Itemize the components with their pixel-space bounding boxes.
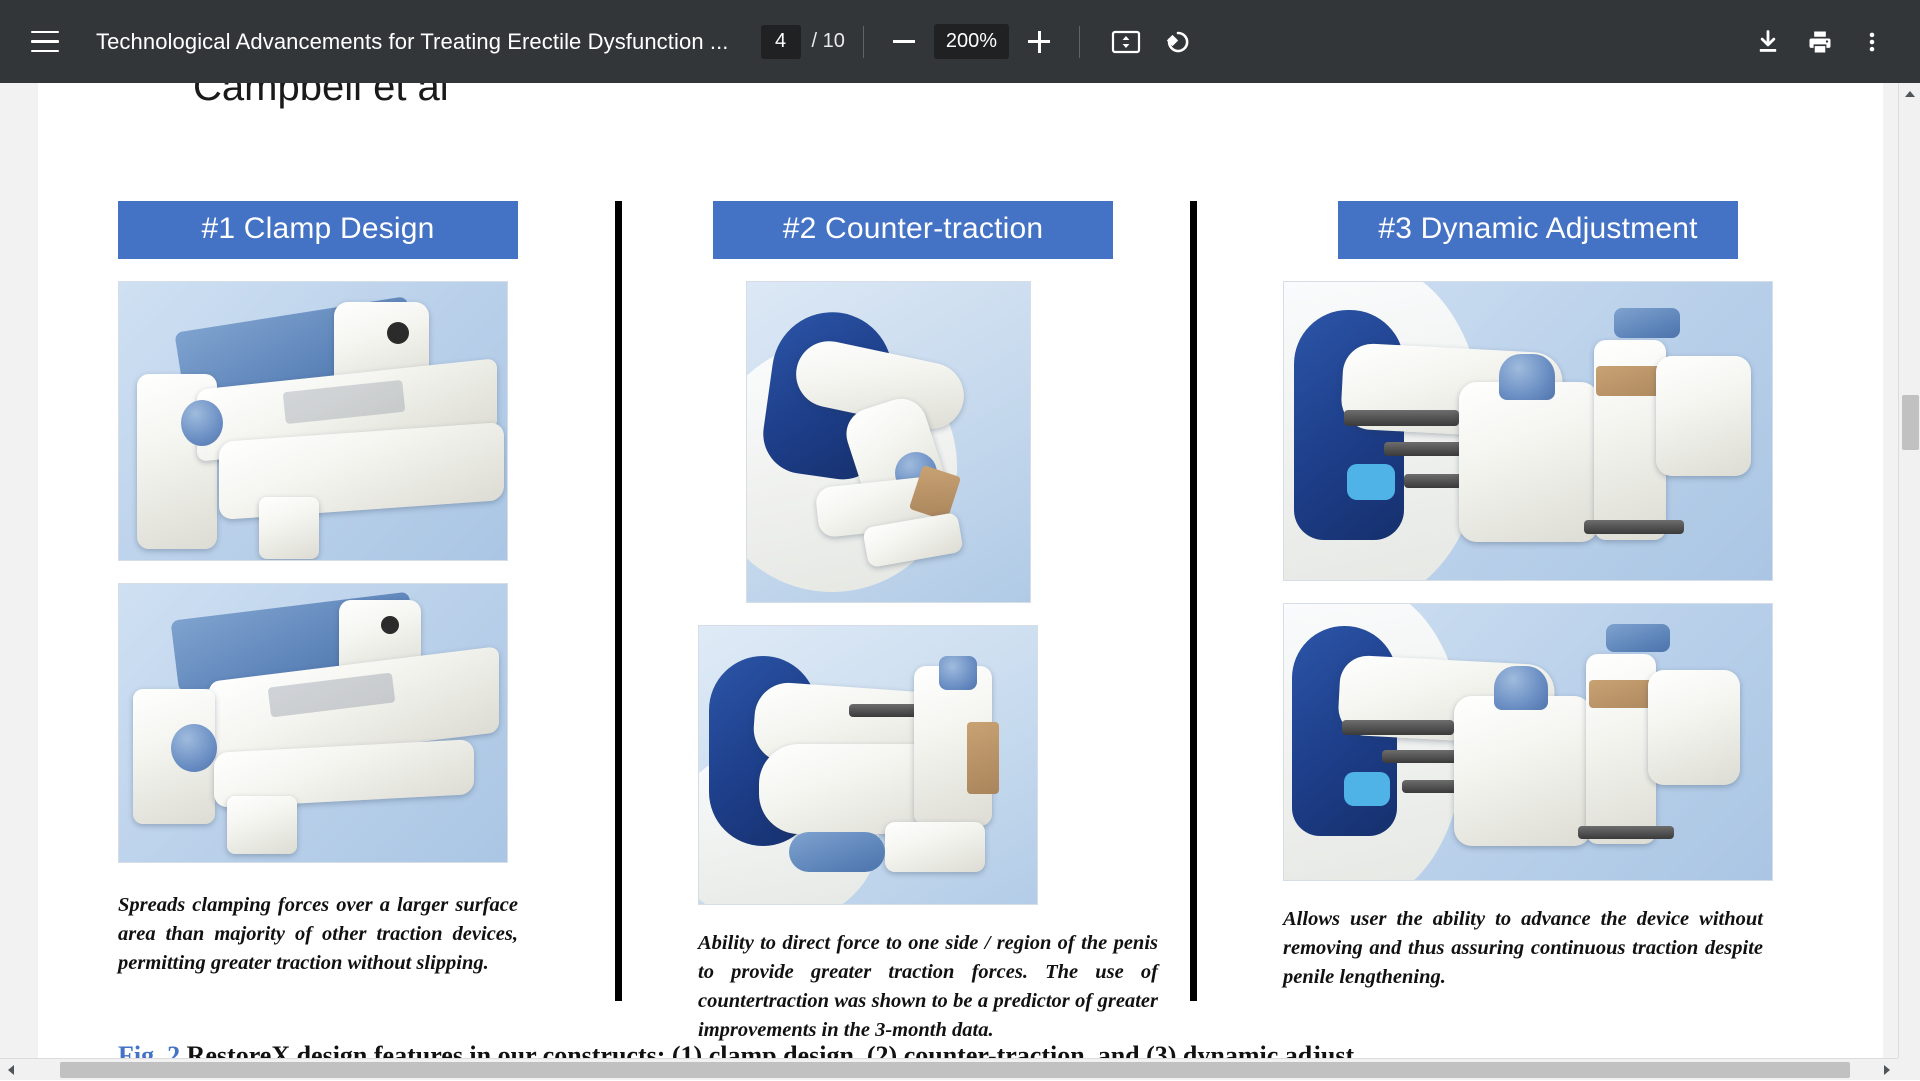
hamburger-menu-icon[interactable]	[16, 13, 74, 71]
horizontal-scrollbar[interactable]	[0, 1058, 1898, 1080]
pdf-viewer-toolbar: Technological Advancements for Treating …	[0, 0, 1920, 83]
scrollbar-corner	[1898, 1058, 1920, 1080]
pdf-page-4: Campbell et al #1 Clamp Design	[38, 83, 1883, 1080]
toolbar-divider-2	[1079, 26, 1080, 58]
feature-column-1: #1 Clamp Design	[118, 201, 518, 978]
download-icon[interactable]	[1742, 16, 1794, 68]
zoom-in-icon[interactable]	[1017, 20, 1061, 64]
column-3-caption: Allows user the ability to advance the d…	[1283, 905, 1763, 992]
zoom-out-icon[interactable]	[882, 20, 926, 64]
feature-column-2: #2 Counter-traction	[698, 201, 1128, 1045]
horizontal-scrollbar-thumb[interactable]	[60, 1062, 1850, 1078]
clipped-page-heading: Campbell et al	[193, 83, 449, 110]
column-1-header: #1 Clamp Design	[118, 201, 518, 259]
rotate-counterclockwise-icon[interactable]	[1154, 18, 1202, 66]
column-1-caption: Spreads clamping forces over a larger su…	[118, 891, 518, 978]
column-2-caption: Ability to direct force to one side / re…	[698, 929, 1158, 1045]
feature-column-3: #3 Dynamic Adjustment	[1283, 201, 1783, 992]
page-number-input[interactable]	[761, 25, 801, 59]
more-vertical-icon[interactable]	[1846, 16, 1898, 68]
counter-traction-device-photo-top	[746, 281, 1031, 603]
vertical-scrollbar-thumb[interactable]	[1902, 395, 1919, 450]
zoom-level-label[interactable]: 200%	[934, 24, 1009, 59]
triangle-left-icon[interactable]	[0, 1059, 22, 1081]
vertical-scrollbar[interactable]	[1898, 83, 1920, 1080]
clamp-device-photo-top	[118, 281, 508, 561]
clamp-device-photo-bottom	[118, 583, 508, 863]
triangle-up-icon[interactable]	[1899, 83, 1920, 105]
zoom-controls: 200%	[882, 20, 1061, 64]
page-count-label: / 10	[812, 30, 845, 53]
print-icon[interactable]	[1794, 16, 1846, 68]
page-navigation: / 10	[761, 25, 845, 59]
column-3-header: #3 Dynamic Adjustment	[1338, 201, 1738, 259]
feature-columns: #1 Clamp Design	[38, 201, 1883, 1031]
pdf-viewer-area[interactable]: Campbell et al #1 Clamp Design	[0, 83, 1920, 1080]
counter-traction-device-photo-bottom	[698, 625, 1038, 905]
dynamic-adjustment-device-photo-top	[1283, 281, 1773, 581]
dynamic-adjustment-device-photo-bottom	[1283, 603, 1773, 881]
column-2-header: #2 Counter-traction	[713, 201, 1113, 259]
toolbar-divider	[863, 26, 864, 58]
document-title: Technological Advancements for Treating …	[96, 29, 729, 55]
triangle-right-icon[interactable]	[1876, 1059, 1898, 1081]
fit-to-page-icon[interactable]	[1102, 18, 1150, 66]
